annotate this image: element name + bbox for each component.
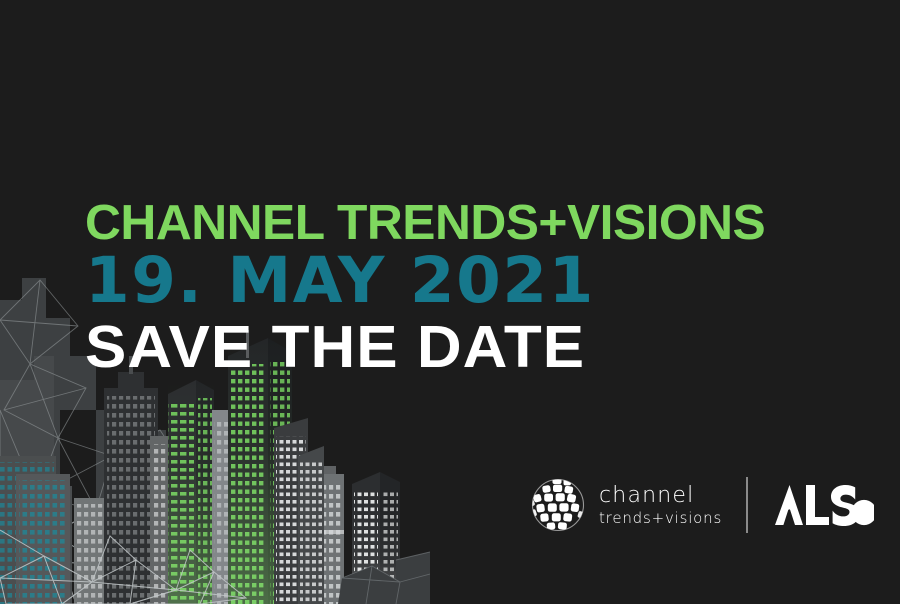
headline-call-to-action: SAVE THE DATE bbox=[85, 316, 883, 378]
channel-trends-visions-logo: channel trends+visions bbox=[528, 475, 722, 535]
headline-block: CHANNEL TRENDS+VISIONS 19. MAY 2021 SAVE… bbox=[85, 196, 845, 378]
logo-divider bbox=[746, 477, 748, 533]
channel-word-sub: trends+visions bbox=[599, 511, 722, 526]
save-the-date-banner: CHANNEL TRENDS+VISIONS 19. MAY 2021 SAVE… bbox=[0, 0, 900, 604]
channel-word-main: channel bbox=[599, 485, 722, 507]
logo-lockup: channel trends+visions bbox=[528, 468, 874, 542]
also-wordmark bbox=[774, 484, 874, 526]
headline-date: 19. MAY 2021 bbox=[85, 248, 860, 314]
checkered-sphere-icon bbox=[528, 475, 588, 535]
channel-wordmark: channel trends+visions bbox=[599, 485, 722, 526]
headline-title: CHANNEL TRENDS+VISIONS bbox=[85, 196, 856, 250]
